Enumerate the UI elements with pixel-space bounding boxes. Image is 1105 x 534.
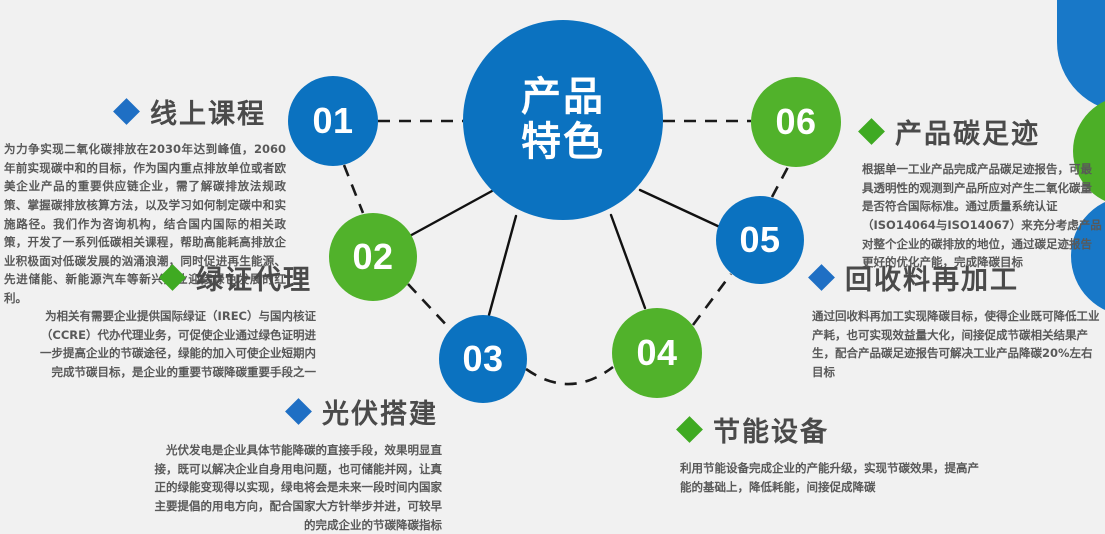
section-recycling-body: 通过回收料再加工实现降碳目标，使得企业既可降低工业产耗，也可实现效益量大化，间接… (812, 307, 1100, 382)
section-recycling-header: 回收料再加工 (812, 258, 1100, 297)
node-03-number: 03 (462, 341, 503, 377)
wire-02-03 (408, 284, 451, 330)
diamond-bullet-icon (159, 264, 186, 291)
section-photovoltaic-header: 光伏搭建 (150, 392, 442, 431)
section-carbon-footprint: 产品碳足迹 根据单一工业产品完成产品碳足迹报告，可最具透明性的观测到产品所应对产… (862, 112, 1102, 272)
section-green-cert-body: 为相关有需要企业提供国际绿证（IREC）与国内核证（CCRE）代办代理业务，可促… (34, 307, 316, 382)
spoke-center-05 (640, 190, 722, 228)
section-energy-equipment: 节能设备 利用节能设备完成企业的产能升级，实现节碳效果，提高产能的基础上，降低耗… (680, 410, 980, 496)
section-carbon-footprint-body: 根据单一工业产品完成产品碳足迹报告，可最具透明性的观测到产品所应对产生二氧化碳量… (862, 160, 1102, 272)
node-06[interactable]: 06 (751, 77, 841, 167)
infographic-canvas: 产品 特色 01 02 03 04 05 06 线上课程 为力争实现二氧化碳排放… (0, 0, 1105, 512)
section-energy-equipment-title: 节能设备 (713, 410, 829, 449)
center-hub-line1: 产品 (521, 75, 605, 120)
section-energy-equipment-body: 利用节能设备完成企业的产能升级，实现节碳效果，提高产能的基础上，降低耗能，间接促… (680, 459, 980, 496)
node-01-number: 01 (312, 103, 353, 139)
center-hub[interactable]: 产品 特色 (463, 20, 663, 220)
diamond-bullet-icon (676, 416, 703, 443)
section-online-course-title: 线上课程 (150, 92, 266, 131)
section-photovoltaic-body: 光伏发电是企业具体节能降碳的直接手段，效果明显直接，既可以解决企业自身用电问题，… (150, 441, 442, 534)
diamond-bullet-icon (858, 118, 885, 145)
section-photovoltaic: 光伏搭建 光伏发电是企业具体节能降碳的直接手段，效果明显直接，既可以解决企业自身… (150, 392, 442, 534)
node-02-number: 02 (352, 239, 393, 275)
spoke-center-02 (406, 191, 492, 238)
section-photovoltaic-title: 光伏搭建 (322, 392, 438, 431)
node-05[interactable]: 05 (716, 196, 804, 284)
node-04[interactable]: 04 (612, 308, 702, 398)
section-carbon-footprint-header: 产品碳足迹 (862, 112, 1102, 151)
section-green-cert: 绿证代理 为相关有需要企业提供国际绿证（IREC）与国内核证（CCRE）代办代理… (34, 258, 316, 382)
section-recycling: 回收料再加工 通过回收料再加工实现降碳目标，使得企业既可降低工业产耗，也可实现效… (812, 258, 1100, 382)
node-05-number: 05 (739, 222, 780, 258)
diamond-bullet-icon (808, 264, 835, 291)
section-green-cert-header: 绿证代理 (34, 258, 316, 297)
wire-04-05 (693, 274, 731, 325)
diamond-bullet-icon (113, 98, 140, 125)
center-hub-line2: 特色 (521, 120, 605, 165)
node-06-number: 06 (775, 104, 816, 140)
wire-01-02 (344, 165, 363, 213)
node-02[interactable]: 02 (329, 213, 417, 301)
section-online-course-header: 线上课程 (4, 92, 286, 131)
section-green-cert-title: 绿证代理 (196, 258, 312, 297)
spoke-center-03 (489, 216, 516, 315)
node-04-number: 04 (636, 335, 677, 371)
section-carbon-footprint-title: 产品碳足迹 (895, 112, 1040, 151)
section-energy-equipment-header: 节能设备 (680, 410, 980, 449)
wire-03-04 (526, 367, 613, 384)
wire-05-06 (772, 167, 788, 197)
spoke-center-04 (611, 215, 645, 308)
section-recycling-title: 回收料再加工 (845, 258, 1019, 297)
node-01[interactable]: 01 (288, 76, 378, 166)
diamond-bullet-icon (285, 398, 312, 425)
node-03[interactable]: 03 (439, 315, 527, 403)
